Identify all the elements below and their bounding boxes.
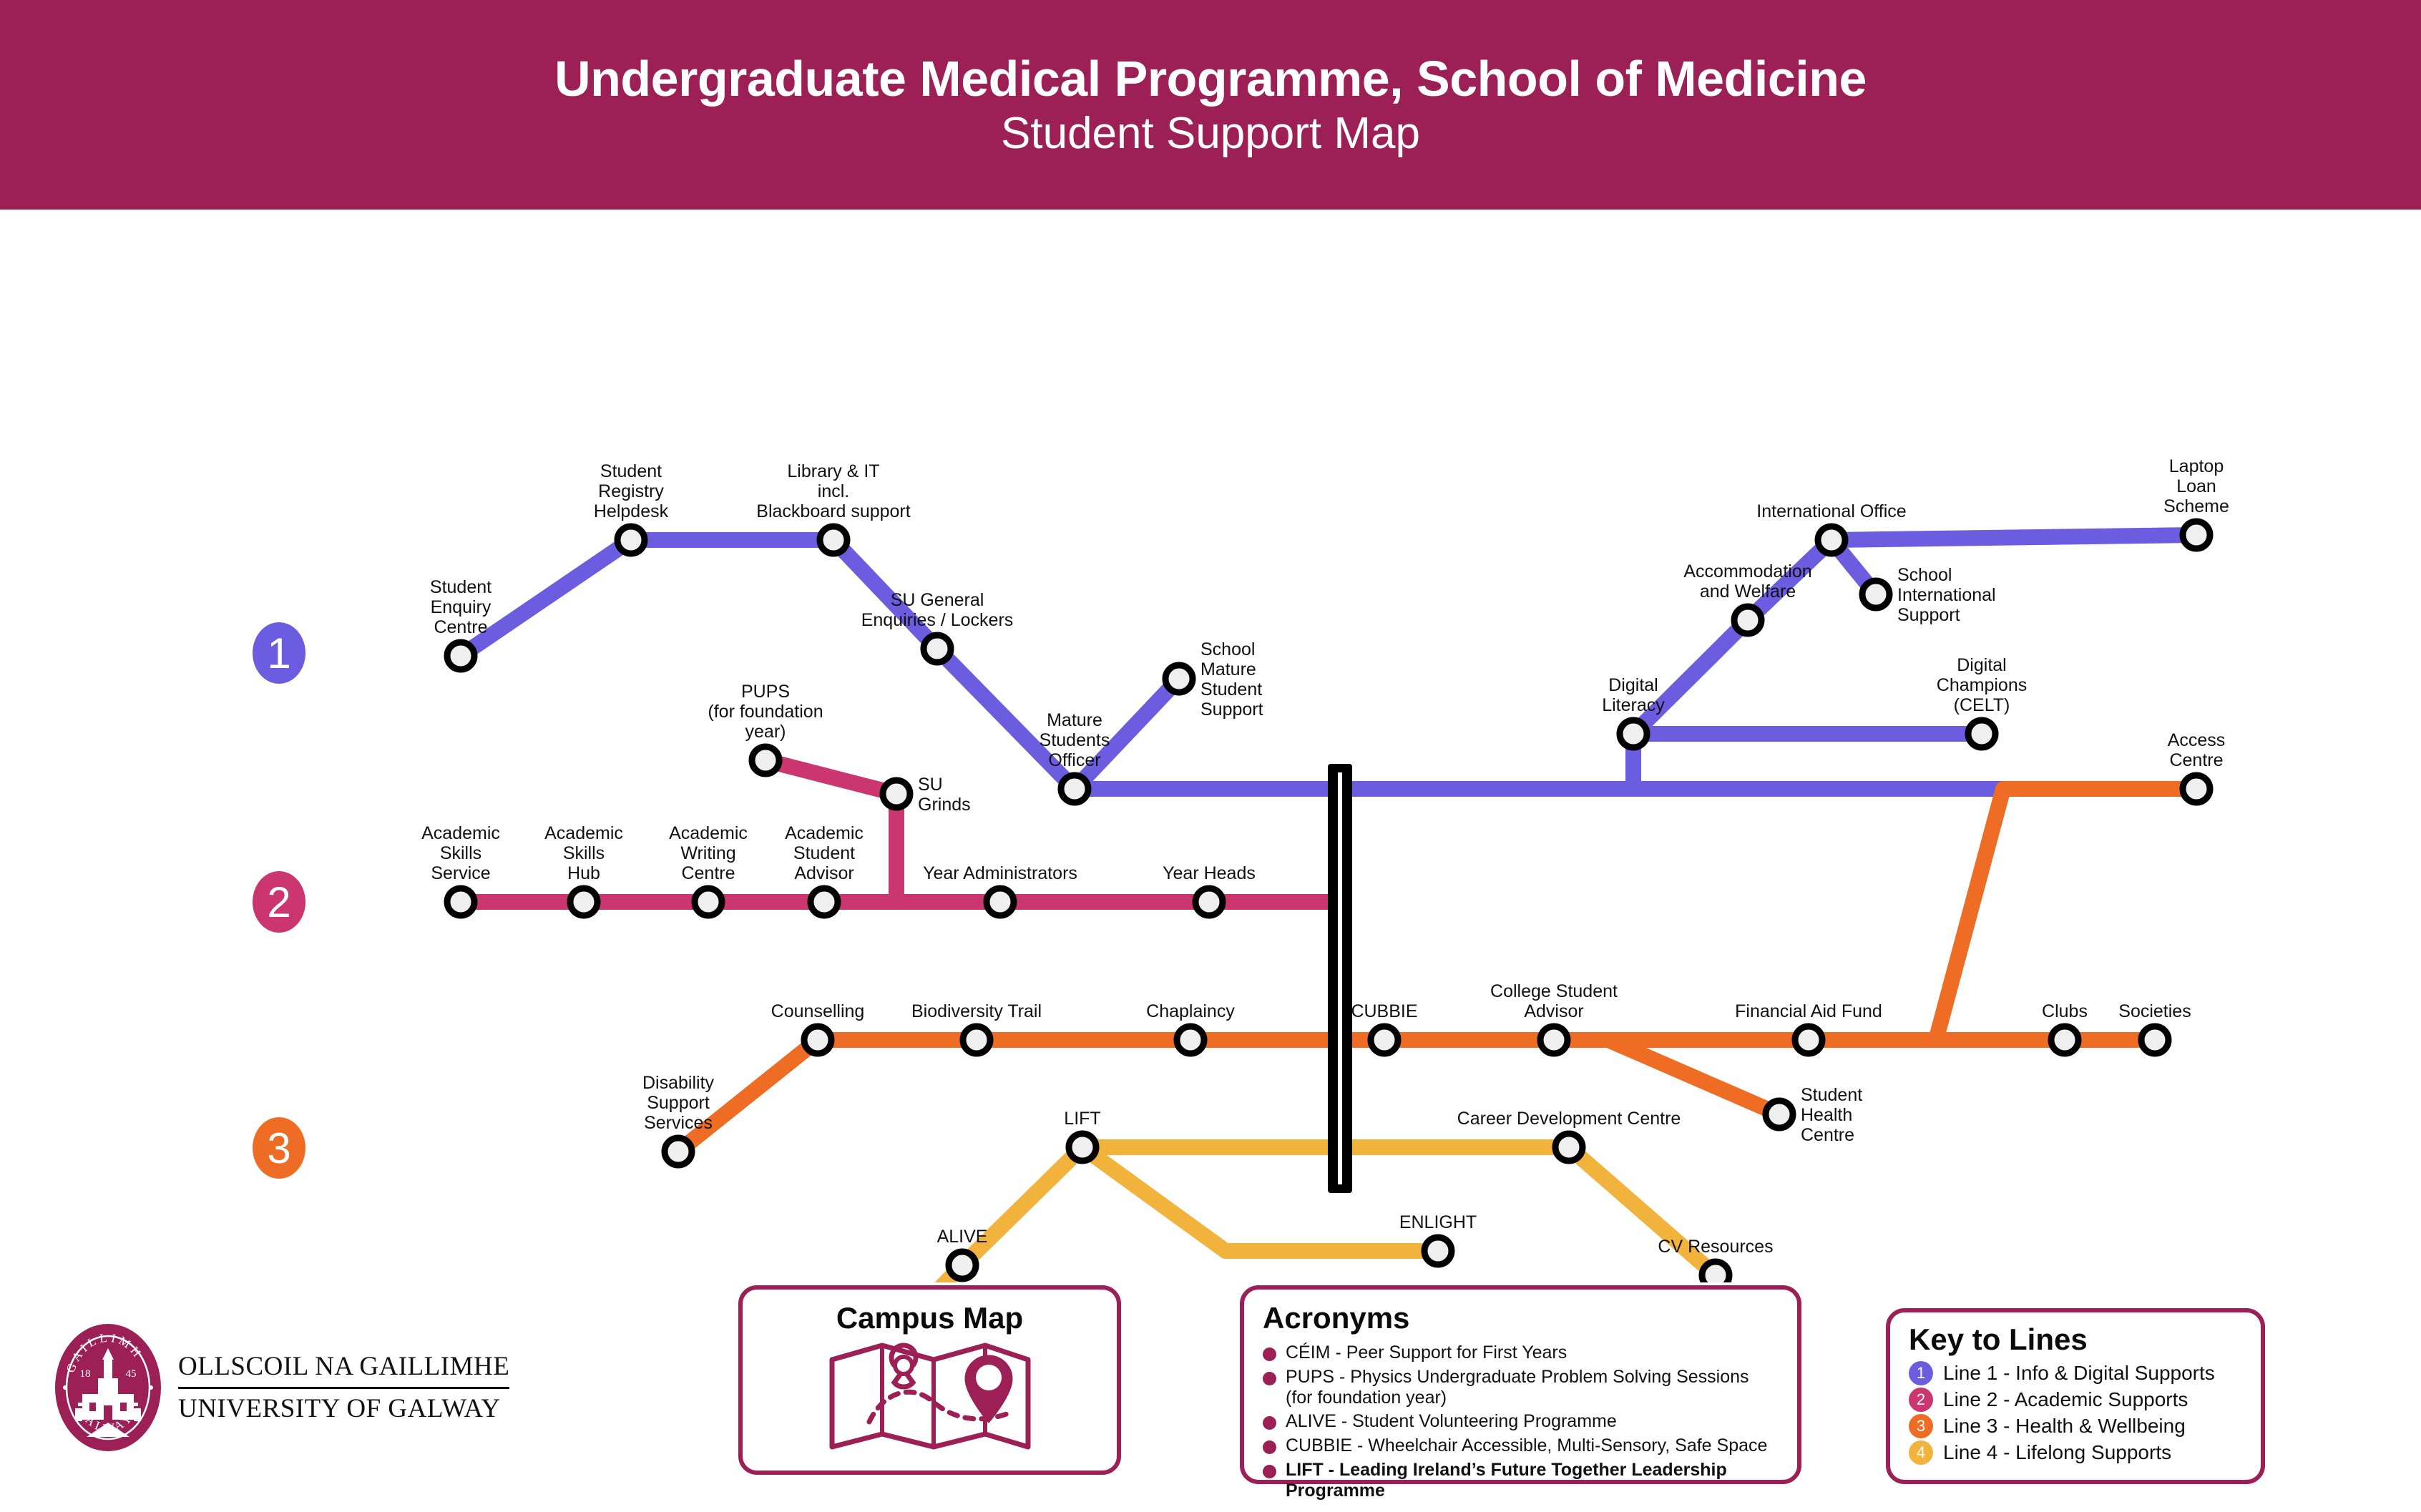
key-line-label-1: Line 1 - Info & Digital Supports — [1943, 1362, 2215, 1385]
acronym-text: CÉIM - Peer Support for First Years — [1286, 1342, 1567, 1363]
key-line-badge-4: 4 — [1909, 1440, 1933, 1465]
station-counselling[interactable] — [804, 1026, 831, 1054]
key-to-lines-panel: Key to Lines 1Line 1 - Info & Digital Su… — [1886, 1308, 2265, 1484]
station-access-centre[interactable] — [2183, 775, 2210, 802]
station-cubbie[interactable] — [1371, 1026, 1398, 1054]
acronyms-list: CÉIM - Peer Support for First YearsPUPS … — [1263, 1342, 1779, 1501]
station-student-enquiry-centre[interactable] — [447, 642, 474, 669]
station-international-office[interactable] — [1818, 526, 1845, 554]
line-badge-label-2: 2 — [267, 878, 290, 926]
page-subtitle: Student Support Map — [1001, 110, 1420, 157]
station-lift[interactable] — [1069, 1134, 1096, 1161]
station-label-year-administrators: Year Administrators — [923, 863, 1077, 883]
station-label-academic-skills-service: AcademicSkillsService — [421, 823, 500, 883]
acronym-text: LIFT - Leading Ireland’s Future Together… — [1286, 1460, 1779, 1501]
station-enlight[interactable] — [1424, 1237, 1452, 1265]
station-societies[interactable] — [2141, 1026, 2168, 1054]
line-badge-3: 3 — [253, 1117, 305, 1179]
station-label-academic-student-advisor: AcademicStudentAdvisor — [785, 823, 864, 883]
key-line-badge-1: 1 — [1909, 1361, 1933, 1385]
station-label-chaplaincy: Chaplaincy — [1146, 1001, 1235, 1021]
acronym-text: CUBBIE - Wheelchair Accessible, Multi-Se… — [1286, 1435, 1767, 1456]
station-career-development-centre[interactable] — [1555, 1134, 1583, 1161]
station-digital-champions-celt[interactable] — [1968, 720, 1995, 747]
logo-name-irish: OLLSCOIL NA GAILLIMHE — [178, 1351, 509, 1382]
acronym-item: PUPS - Physics Undergraduate Problem Sol… — [1263, 1367, 1779, 1408]
station-label-cv-resources: CV Resources — [1658, 1237, 1773, 1257]
key-line-label-3: Line 3 - Health & Wellbeing — [1943, 1415, 2186, 1438]
station-library-it-blackboard-support[interactable] — [820, 526, 847, 554]
bullet-dot — [1263, 1440, 1276, 1454]
station-label-school-international-support: SchoolInternationalSupport — [1897, 565, 1996, 625]
station-label-academic-writing-centre: AcademicWritingCentre — [669, 823, 748, 883]
line-3-track — [678, 789, 2196, 1152]
station-clubs[interactable] — [2051, 1026, 2078, 1054]
station-label-lift: LIFT — [1064, 1109, 1100, 1129]
key-to-lines-list: 1Line 1 - Info & Digital Supports2Line 2… — [1909, 1361, 2244, 1465]
key-line-item-2: 2Line 2 - Academic Supports — [1909, 1388, 2244, 1412]
station-financial-aid-fund[interactable] — [1795, 1026, 1822, 1054]
university-crest-icon: GAILLIMH GALWAY 18 45 — [54, 1322, 162, 1453]
station-school-international-support[interactable] — [1862, 581, 1889, 608]
crest-year-right: 45 — [126, 1368, 137, 1380]
station-label-counselling: Counselling — [771, 1001, 865, 1021]
station-su-general-enquiries-lockers[interactable] — [924, 635, 951, 662]
campus-map-title: Campus Map — [836, 1301, 1023, 1335]
key-line-badge-3: 3 — [1909, 1414, 1933, 1438]
station-label-enlight: ENLIGHT — [1399, 1212, 1477, 1232]
acronym-item: CÉIM - Peer Support for First Years — [1263, 1342, 1779, 1363]
bullet-dot — [1263, 1347, 1276, 1361]
key-line-item-4: 4Line 4 - Lifelong Supports — [1909, 1440, 2244, 1465]
station-mature-students-officer[interactable] — [1061, 775, 1088, 802]
key-line-label-4: Line 4 - Lifelong Supports — [1943, 1441, 2171, 1464]
station-label-financial-aid-fund: Financial Aid Fund — [1735, 1001, 1882, 1021]
station-school-mature-student-support[interactable] — [1165, 665, 1193, 692]
acronym-item: LIFT - Leading Ireland’s Future Together… — [1263, 1460, 1779, 1501]
station-label-access-centre: AccessCentre — [2168, 730, 2226, 770]
station-label-mature-students-officer: MatureStudentsOfficer — [1040, 710, 1110, 770]
station-cv-resources[interactable] — [1702, 1262, 1729, 1282]
acronym-text: ALIVE - Student Volunteering Programme — [1286, 1411, 1617, 1432]
acronym-item: CUBBIE - Wheelchair Accessible, Multi-Se… — [1263, 1435, 1779, 1456]
station-academic-skills-service[interactable] — [447, 888, 474, 915]
station-label-student-enquiry-centre: StudentEnquiryCentre — [430, 577, 491, 637]
logo-divider — [178, 1387, 509, 1389]
station-label-digital-champions-celt: DigitalChampions(CELT) — [1937, 655, 2027, 715]
key-line-badge-2: 2 — [1909, 1388, 1933, 1412]
station-label-laptop-loan-scheme: LaptopLoanScheme — [2163, 456, 2229, 516]
key-line-label-2: Line 2 - Academic Supports — [1943, 1388, 2188, 1411]
station-label-school-mature-student-support: SchoolMatureStudentSupport — [1200, 639, 1263, 720]
station-label-societies: Societies — [2118, 1001, 2191, 1021]
line-badge-label-1: 1 — [267, 629, 290, 677]
station-year-administrators[interactable] — [987, 888, 1014, 915]
page-title: Undergraduate Medical Programme, School … — [554, 53, 1867, 106]
station-label-college-student-advisor: College StudentAdvisor — [1490, 981, 1618, 1021]
station-chaplaincy[interactable] — [1177, 1026, 1204, 1054]
bullet-dot — [1263, 1372, 1276, 1385]
key-line-item-3: 3Line 3 - Health & Wellbeing — [1909, 1414, 2244, 1438]
bullet-dot — [1263, 1416, 1276, 1430]
line-badge-2: 2 — [253, 871, 305, 933]
station-label-cubbie: CUBBIE — [1351, 1001, 1417, 1021]
station-student-health-centre[interactable] — [1766, 1101, 1793, 1128]
station-academic-student-advisor[interactable] — [811, 888, 838, 915]
page-header: Undergraduate Medical Programme, School … — [0, 0, 2421, 210]
station-label-disability-support-services: DisabilitySupportServices — [642, 1073, 715, 1133]
station-label-pups-foundation-year: PUPS(for foundationyear) — [708, 682, 823, 742]
station-alive[interactable] — [949, 1252, 976, 1279]
station-label-clubs: Clubs — [2042, 1001, 2088, 1021]
line-number-badges: 1234 — [253, 622, 305, 1282]
key-line-item-1: 1Line 1 - Info & Digital Supports — [1909, 1361, 2244, 1385]
acronym-item: ALIVE - Student Volunteering Programme — [1263, 1411, 1779, 1432]
line-badge-1: 1 — [253, 622, 305, 684]
station-label-career-development-centre: Career Development Centre — [1457, 1109, 1681, 1129]
station-college-student-advisor[interactable] — [1540, 1026, 1567, 1054]
station-laptop-loan-scheme[interactable] — [2183, 521, 2210, 549]
station-label-biodiversity-trail: Biodiversity Trail — [911, 1001, 1042, 1021]
acronyms-panel: Acronyms CÉIM - Peer Support for First Y… — [1240, 1285, 1801, 1484]
line-badge-label-3: 3 — [267, 1124, 290, 1172]
campus-map-panel[interactable]: Campus Map — [738, 1285, 1121, 1475]
station-label-year-heads: Year Heads — [1163, 863, 1256, 883]
transit-map: StudentEnquiryCentreStudentRegistryHelpd… — [0, 210, 2421, 1282]
station-su-grinds[interactable] — [883, 780, 910, 807]
station-label-su-grinds: SUGrinds — [918, 775, 971, 815]
station-label-international-office: International Office — [1756, 501, 1906, 521]
station-pups-foundation-year[interactable] — [752, 747, 779, 774]
station-label-academic-skills-hub: AcademicSkillsHub — [544, 823, 623, 883]
station-label-student-registry-helpdesk: StudentRegistryHelpdesk — [594, 461, 669, 521]
station-label-library-it-blackboard-support: Library & ITincl.Blackboard support — [756, 461, 910, 521]
acronym-text: PUPS - Physics Undergraduate Problem Sol… — [1286, 1367, 1749, 1408]
interchange-bar — [1328, 764, 1352, 1193]
key-to-lines-title: Key to Lines — [1909, 1322, 2244, 1357]
station-label-digital-literacy: DigitalLiteracy — [1602, 675, 1665, 715]
station-student-registry-helpdesk[interactable] — [617, 526, 645, 554]
bullet-dot — [1263, 1465, 1276, 1478]
station-digital-literacy[interactable] — [1620, 720, 1647, 747]
station-year-heads[interactable] — [1195, 888, 1223, 915]
crest-year-left: 18 — [80, 1368, 91, 1380]
university-logo: GAILLIMH GALWAY 18 45 — [54, 1320, 512, 1455]
station-academic-writing-centre[interactable] — [695, 888, 722, 915]
acronyms-title: Acronyms — [1263, 1301, 1779, 1335]
station-disability-support-services[interactable] — [665, 1138, 692, 1165]
station-label-alive: ALIVE — [937, 1227, 988, 1247]
station-label-accommodation-and-welfare: Accommodationand Welfare — [1683, 561, 1811, 602]
station-accommodation-and-welfare[interactable] — [1734, 607, 1761, 634]
logo-name-english: UNIVERSITY OF GALWAY — [178, 1393, 509, 1424]
station-academic-skills-hub[interactable] — [570, 888, 597, 915]
station-biodiversity-trail[interactable] — [963, 1026, 990, 1054]
station-label-student-health-centre: StudentHealthCentre — [1801, 1085, 1862, 1145]
folded-map-icon — [826, 1340, 1034, 1461]
